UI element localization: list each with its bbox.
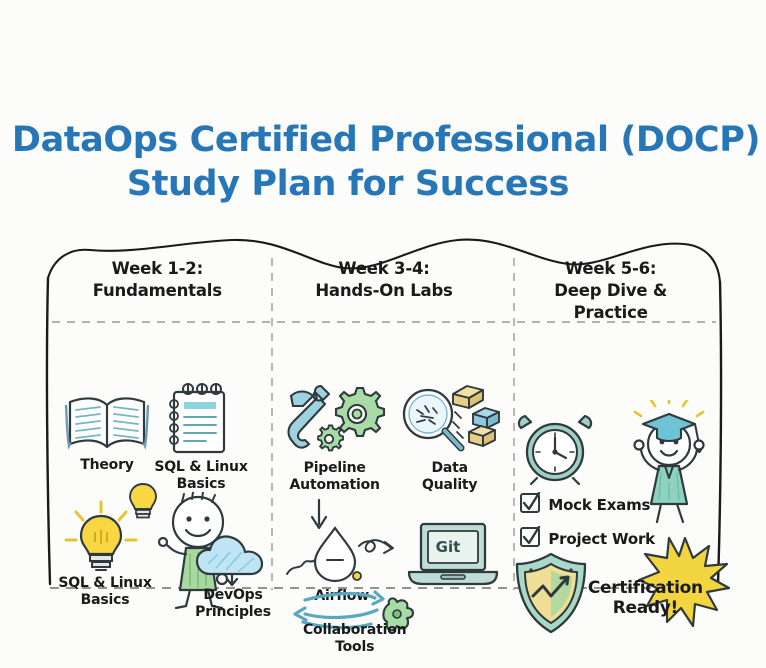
column-3-heading-line-2: Deep Dive &	[497, 280, 724, 302]
checkbox-checked-icon[interactable]	[519, 492, 541, 518]
checklist-item-mock-exams[interactable]: Mock Exams	[519, 492, 650, 518]
caption-line-1: DevOps	[203, 587, 262, 603]
caption-devops-principles: DevOps Principles	[187, 587, 279, 621]
laptop-icon	[405, 520, 501, 594]
column-1-heading-line-2: Fundamentals	[44, 280, 271, 302]
caption-line-2: Automation	[290, 477, 380, 493]
caption-sql-linux-basics-top: SQL & Linux Basics	[146, 459, 256, 493]
page-title-line-1: DataOps Certified Professional (DOCP)	[0, 118, 766, 162]
page-title-line-2: Study Plan for Success	[0, 162, 766, 206]
alarm-clock-icon	[515, 410, 595, 490]
column-1-heading: Week 1-2: Fundamentals	[44, 252, 271, 302]
column-3-heading: Week 5-6: Deep Dive & Practice	[497, 252, 724, 324]
open-book-icon	[64, 390, 150, 458]
caption-line-2: Basics	[177, 476, 226, 492]
caption-sql-linux-basics-bottom: SQL & Linux Basics	[46, 575, 164, 609]
cert-line-1: Certification	[588, 578, 703, 598]
cloud-icon	[194, 532, 270, 590]
magnifier-boxes-icon	[399, 380, 503, 466]
column-week-5-6: Week 5-6: Deep Dive & Practice	[497, 252, 724, 596]
caption-line-1: Pipeline	[304, 460, 366, 476]
git-screen-label: Git	[436, 538, 461, 556]
caption-line-1: Data	[431, 460, 467, 476]
column-3-heading-line-3: Practice	[497, 302, 724, 324]
column-2-heading-line-2: Hands-On Labs	[271, 280, 498, 302]
caption-pipeline-automation: Pipeline Automation	[271, 460, 399, 494]
column-2-body: Pipeline Automation	[271, 302, 498, 646]
caption-theory: Theory	[58, 457, 156, 474]
caption-line-1: Collaboration	[303, 622, 406, 638]
cert-line-2: Ready!	[613, 598, 678, 618]
infographic-page: DataOps Certified Professional (DOCP) St…	[0, 0, 766, 633]
notepad-icon	[162, 380, 234, 462]
caption-line-2: Principles	[195, 604, 271, 620]
column-2-heading: Week 3-4: Hands-On Labs	[271, 252, 498, 302]
column-2-heading-line-1: Week 3-4:	[271, 258, 498, 280]
water-drop-icon	[283, 524, 399, 592]
caption-line-2: Basics	[81, 592, 130, 608]
caption-data-quality: Data Quality	[407, 460, 493, 494]
caption-collaboration-tools: Collaboration Tools	[281, 622, 429, 656]
column-week-1-2: Week 1-2: Fundamentals	[44, 252, 271, 596]
wrench-gears-icon	[279, 384, 397, 460]
column-1-body: Theory	[44, 302, 271, 646]
caption-line-1: SQL & Linux	[154, 459, 247, 475]
page-title: DataOps Certified Professional (DOCP) St…	[0, 118, 766, 206]
caption-line-2: Quality	[422, 477, 477, 493]
caption-line-1: SQL & Linux	[58, 575, 151, 591]
column-3-body: Mock Exams Project Work	[497, 324, 724, 668]
column-week-3-4: Week 3-4: Hands-On Labs	[271, 252, 498, 596]
shield-icon	[511, 550, 591, 640]
caption-line-2: Tools	[335, 639, 374, 655]
column-1-heading-line-1: Week 1-2:	[44, 258, 271, 280]
columns-container: Week 1-2: Fundamentals	[44, 252, 724, 596]
checklist-item-project-work[interactable]: Project Work	[519, 526, 655, 552]
certification-ready-text: Certification Ready!	[581, 578, 709, 618]
column-3-heading-line-1: Week 5-6:	[497, 258, 724, 280]
checkbox-checked-icon[interactable]	[519, 526, 541, 552]
checklist-label-mock-exams: Mock Exams	[548, 496, 650, 514]
